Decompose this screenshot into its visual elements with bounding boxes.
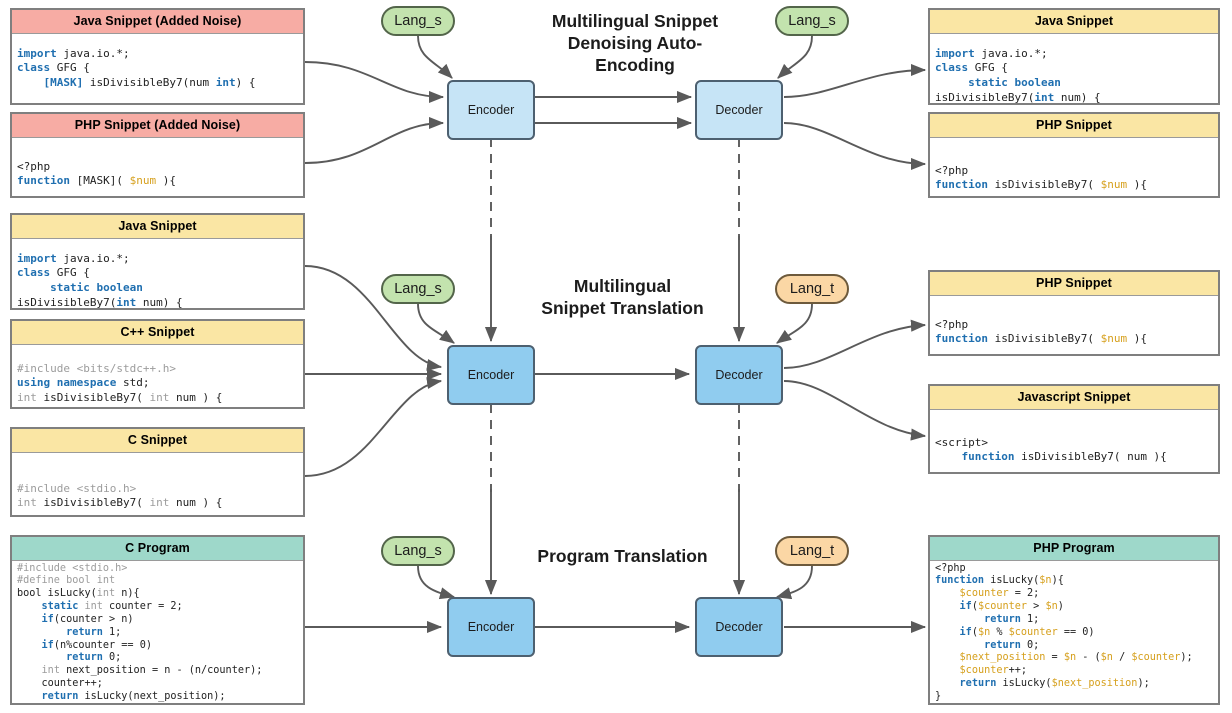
decoder-block-row3[interactable]: Decoder <box>695 597 783 657</box>
input-panel-c-snippet: C Snippet #include <stdio.h> int isDivis… <box>10 427 305 517</box>
output-panel-php-snippet: PHP Snippet <?php function isDivisibleBy… <box>928 112 1220 198</box>
lang-token-source-row2[interactable]: Lang_s <box>381 274 455 304</box>
panel-title: C Program <box>12 537 303 561</box>
panel-code: import java.io.*; class GFG { [MASK] isD… <box>12 34 303 95</box>
panel-code: <script> function isDivisibleBy7( num ){ <box>930 410 1218 469</box>
panel-code: <?php function isLucky($n){ $counter = 2… <box>930 561 1218 706</box>
panel-code: <?php function isDivisibleBy7( $num ){ <box>930 138 1218 197</box>
encoder-block-row1[interactable]: Encoder <box>447 80 535 140</box>
section-title-line1: Program Translation <box>520 545 725 567</box>
input-panel-java-noise: Java Snippet (Added Noise) import java.i… <box>10 8 305 105</box>
section-title-line1: Multilingual <box>530 275 715 297</box>
output-panel-php-snippet-2: PHP Snippet <?php function isDivisibleBy… <box>928 270 1220 356</box>
lang-token-source-row3[interactable]: Lang_s <box>381 536 455 566</box>
section-title-line2: Denoising Auto-Encoding <box>530 32 740 76</box>
panel-title: Java Snippet (Added Noise) <box>12 10 303 34</box>
decoder-block-row1[interactable]: Decoder <box>695 80 783 140</box>
section-title-line1: Multilingual Snippet <box>530 10 740 32</box>
lang-token-target-row2[interactable]: Lang_t <box>775 274 849 304</box>
encoder-block-row3[interactable]: Encoder <box>447 597 535 657</box>
panel-code: #include <stdio.h> #define bool int bool… <box>12 561 303 706</box>
input-panel-cpp-snippet: C++ Snippet #include <bits/stdc++.h> usi… <box>10 319 305 409</box>
panel-title: Java Snippet <box>930 10 1218 34</box>
input-panel-c-program: C Program #include <stdio.h> #define boo… <box>10 535 305 705</box>
panel-title: PHP Snippet <box>930 114 1218 138</box>
output-panel-javascript-snippet: Javascript Snippet <script> function isD… <box>928 384 1220 474</box>
panel-title: C Snippet <box>12 429 303 453</box>
lang-token-target-row3[interactable]: Lang_t <box>775 536 849 566</box>
panel-title: PHP Program <box>930 537 1218 561</box>
panel-title: PHP Snippet (Added Noise) <box>12 114 303 138</box>
section-title-denoising: Multilingual Snippet Denoising Auto-Enco… <box>530 10 740 76</box>
panel-title: PHP Snippet <box>930 272 1218 296</box>
panel-code: <?php function isDivisibleBy7( $num ){ <box>930 296 1218 351</box>
lang-token-source-row1-decoder[interactable]: Lang_s <box>775 6 849 36</box>
encoder-block-row2[interactable]: Encoder <box>447 345 535 405</box>
panel-code: #include <bits/stdc++.h> using namespace… <box>12 345 303 410</box>
panel-title: C++ Snippet <box>12 321 303 345</box>
lang-token-source-row1[interactable]: Lang_s <box>381 6 455 36</box>
diagram-canvas: Java Snippet (Added Noise) import java.i… <box>0 0 1232 713</box>
output-panel-java-snippet: Java Snippet import java.io.*; class GFG… <box>928 8 1220 105</box>
panel-title: Java Snippet <box>12 215 303 239</box>
panel-title: Javascript Snippet <box>930 386 1218 410</box>
decoder-block-row2[interactable]: Decoder <box>695 345 783 405</box>
section-title-program-translation: Program Translation <box>520 545 725 567</box>
panel-code: <?php function [MASK]( $num ){ <box>12 138 303 193</box>
output-panel-php-program: PHP Program <?php function isLucky($n){ … <box>928 535 1220 705</box>
panel-code: import java.io.*; class GFG { static boo… <box>930 34 1218 106</box>
section-title-snippet-translation: Multilingual Snippet Translation <box>530 275 715 319</box>
panel-code: import java.io.*; class GFG { static boo… <box>12 239 303 311</box>
section-title-line2: Snippet Translation <box>530 297 715 319</box>
panel-code: #include <stdio.h> int isDivisibleBy7( i… <box>12 453 303 515</box>
input-panel-php-noise: PHP Snippet (Added Noise) <?php function… <box>10 112 305 198</box>
input-panel-java-snippet: Java Snippet import java.io.*; class GFG… <box>10 213 305 310</box>
